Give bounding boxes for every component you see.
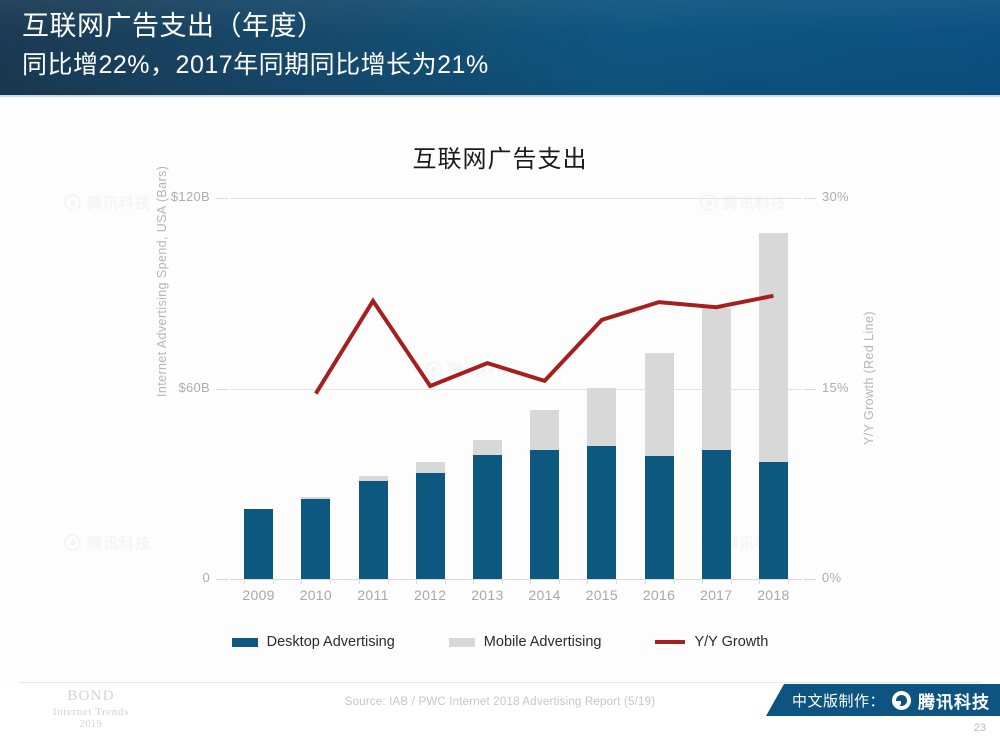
bar-segment-desktop[interactable] [702, 450, 731, 579]
bar-group[interactable] [702, 198, 731, 579]
bond-logo-line1: BOND [26, 688, 156, 705]
y-tick-label-left: $60B [140, 380, 210, 395]
watermark-logo-icon [64, 534, 81, 551]
x-axis-baseline [230, 579, 802, 580]
bar-segment-mobile[interactable] [759, 233, 788, 462]
bar-segment-desktop[interactable] [301, 499, 330, 579]
bar-segment-mobile[interactable] [473, 440, 502, 455]
bar-segment-desktop[interactable] [587, 446, 616, 579]
bar-segment-desktop[interactable] [645, 456, 674, 579]
legend-item[interactable]: Mobile Advertising [449, 634, 602, 650]
watermark: 腾讯科技 [64, 192, 151, 213]
x-tick-label: 2011 [343, 587, 403, 603]
bar-segment-mobile[interactable] [301, 497, 330, 499]
bar-segment-desktop[interactable] [530, 450, 559, 579]
y-tick-mark-right [804, 389, 816, 390]
footer-divider [18, 682, 982, 683]
bar-segment-desktop[interactable] [416, 473, 445, 579]
page-number: 23 [974, 722, 986, 734]
chart-panel: 互联网广告支出 腾讯科技 腾讯科技 腾讯科技 腾讯科技 腾讯科技 Interne… [0, 97, 1000, 682]
y-tick-mark-right [804, 198, 816, 199]
watermark-logo-icon [64, 194, 81, 211]
bar-segment-desktop[interactable] [359, 481, 388, 579]
x-tick-label: 2013 [457, 587, 517, 603]
y-tick-mark-left [216, 579, 228, 580]
bar-segment-mobile[interactable] [416, 462, 445, 473]
bar-group[interactable] [530, 198, 559, 579]
chart-title: 互联网广告支出 [0, 139, 1000, 174]
bar-segment-mobile[interactable] [530, 410, 559, 450]
bar-group[interactable] [587, 198, 616, 579]
watermark-label: 腾讯科技 [87, 532, 151, 553]
badge-brand-label: 腾讯科技 [918, 688, 990, 713]
slide-page: 互联网广告支出（年度） 同比增22%，2017年同期同比增长为21% 互联网广告… [0, 0, 1000, 750]
legend-label: Desktop Advertising [267, 634, 395, 650]
y-tick-mark-left [216, 389, 228, 390]
y-tick-label-right: 15% [822, 380, 882, 395]
legend-label: Y/Y Growth [694, 634, 768, 650]
bar-segment-mobile[interactable] [359, 476, 388, 481]
legend-item[interactable]: Y/Y Growth [655, 634, 768, 650]
x-tick-label: 2017 [686, 587, 746, 603]
legend-line-swatch-icon [655, 640, 685, 644]
badge-prefix-label: 中文版制作： [792, 690, 885, 711]
y-tick-mark-right [804, 579, 816, 580]
x-tick-label: 2012 [400, 587, 460, 603]
y-tick-label-left: $120B [140, 189, 210, 204]
legend-bar-swatch-icon [232, 638, 258, 647]
legend-bar-swatch-icon [449, 638, 475, 647]
watermark: 腾讯科技 [64, 532, 151, 553]
x-tick-label: 2009 [229, 587, 289, 603]
x-tick-label: 2016 [629, 587, 689, 603]
header-title-line1: 互联网广告支出（年度） [22, 9, 325, 43]
x-tick-label: 2015 [572, 587, 632, 603]
bar-segment-mobile[interactable] [587, 388, 616, 446]
bar-segment-desktop[interactable] [759, 462, 788, 579]
x-tick-label: 2018 [743, 587, 803, 603]
tencent-logo-icon [892, 691, 911, 710]
y-tick-label-left: 0 [140, 570, 210, 585]
bond-logo: BOND Internet Trends 2019 [26, 688, 156, 730]
bar-group[interactable] [244, 198, 273, 579]
bar-group[interactable] [301, 198, 330, 579]
bar-group[interactable] [359, 198, 388, 579]
y-tick-label-right: 0% [822, 570, 882, 585]
plot-area: 0$60B$120B 0%15%30% 20092010201120122013… [230, 198, 802, 579]
bar-segment-mobile[interactable] [645, 353, 674, 457]
y-axis-title-right: Y/Y Growth (Red Line) [862, 311, 876, 445]
bar-segment-mobile[interactable] [702, 308, 731, 450]
tencent-credit-badge: 中文版制作： 腾讯科技 [766, 684, 1000, 716]
y-tick-label-right: 30% [822, 189, 882, 204]
legend-label: Mobile Advertising [484, 634, 602, 650]
header-title-line2: 同比增22%，2017年同期同比增长为21% [22, 49, 489, 81]
bar-group[interactable] [759, 198, 788, 579]
x-tick-label: 2014 [515, 587, 575, 603]
y-tick-mark-left [216, 198, 228, 199]
bond-logo-line2: Internet Trends [26, 706, 156, 718]
chart-legend: Desktop AdvertisingMobile AdvertisingY/Y… [0, 634, 1000, 650]
bar-segment-desktop[interactable] [473, 455, 502, 579]
legend-item[interactable]: Desktop Advertising [232, 634, 395, 650]
bar-group[interactable] [473, 198, 502, 579]
slide-header: 互联网广告支出（年度） 同比增22%，2017年同期同比增长为21% [0, 0, 1000, 97]
bar-segment-desktop[interactable] [244, 509, 273, 579]
x-tick-label: 2010 [286, 587, 346, 603]
bar-group[interactable] [645, 198, 674, 579]
bond-logo-line3: 2019 [26, 719, 156, 730]
slide-footer: Source: IAB / PWC Internet 2018 Advertis… [0, 682, 1000, 750]
bar-group[interactable] [416, 198, 445, 579]
